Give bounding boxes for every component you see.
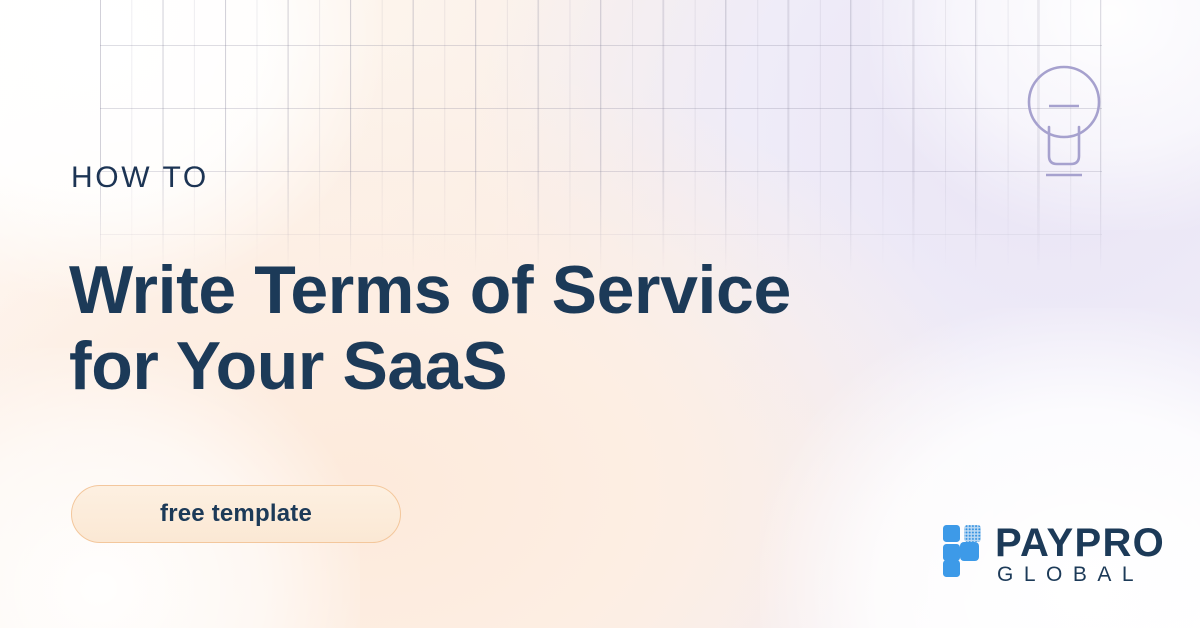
background-grid-pattern-fine xyxy=(100,0,1102,272)
paypro-blocks-icon xyxy=(943,525,987,577)
paypro-global-logo[interactable]: PAYPRO GLOBAL xyxy=(943,523,1147,579)
eyebrow-label: HOW TO xyxy=(71,163,209,193)
logo-wordmark: PAYPRO GLOBAL xyxy=(995,523,1165,586)
lightbulb-icon xyxy=(1018,48,1110,193)
free-template-badge[interactable]: free template xyxy=(71,485,401,543)
badge-label: free template xyxy=(160,502,312,526)
logo-secondary-text: GLOBAL xyxy=(995,564,1165,586)
promo-banner: HOW TO Write Terms of Service for Your S… xyxy=(0,0,1200,628)
page-title: Write Terms of Service for Your SaaS xyxy=(69,252,791,404)
logo-primary-text: PAYPRO xyxy=(995,523,1165,563)
